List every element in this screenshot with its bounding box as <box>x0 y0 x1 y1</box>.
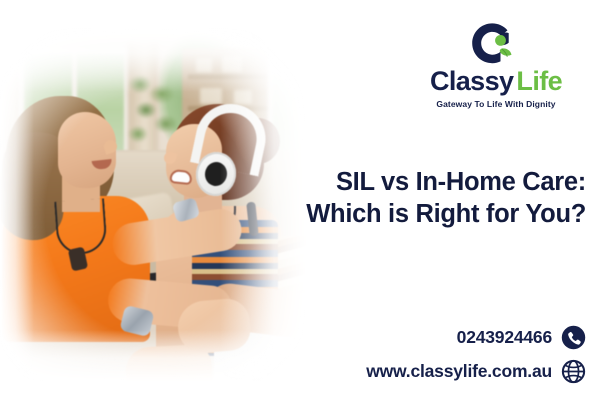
brand-logo[interactable]: ClassyLife Gateway To Life With Dignity <box>406 22 586 109</box>
contact-block: 0243924466 www.classylife.com.au <box>256 325 586 384</box>
classy-life-c-leaf-mark-icon <box>469 22 523 66</box>
brand-word-life: Life <box>516 66 562 96</box>
promotional-banner: ClassyLife Gateway To Life With Dignity … <box>0 0 600 400</box>
photo-fade-left <box>0 0 34 400</box>
phone-number[interactable]: 0243924466 <box>457 327 552 348</box>
contact-website-row[interactable]: www.classylife.com.au <box>256 359 586 384</box>
contact-phone-row[interactable]: 0243924466 <box>256 325 586 350</box>
headline-line-1: SIL vs In-Home Care: <box>336 168 586 196</box>
headline-line-2: Which is Right for You? <box>256 198 586 230</box>
phone-icon[interactable] <box>561 325 586 350</box>
brand-wordmark: ClassyLife <box>406 68 586 95</box>
headline: SIL vs In-Home Care: Which is Right for … <box>256 166 586 230</box>
brand-word-classy: Classy <box>430 66 513 96</box>
website-url[interactable]: www.classylife.com.au <box>366 361 552 382</box>
brand-tagline: Gateway To Life With Dignity <box>406 99 586 109</box>
globe-icon[interactable] <box>561 359 586 384</box>
